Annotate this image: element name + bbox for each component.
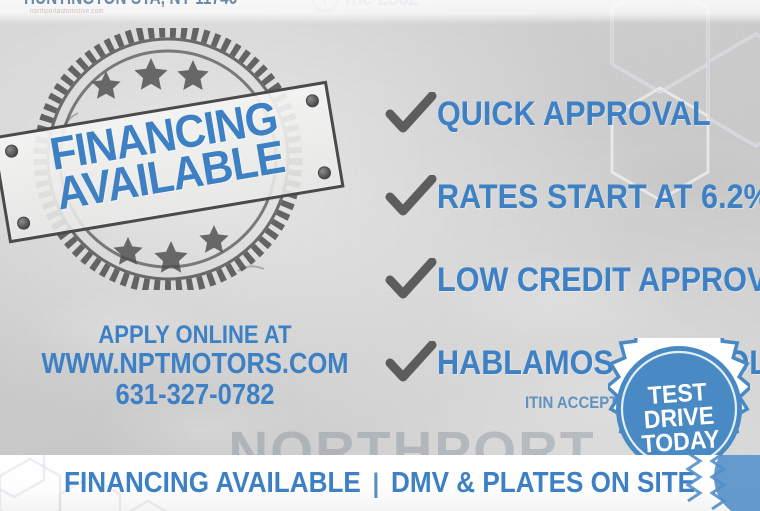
checklist-item: QUICK APPROVAL bbox=[385, 72, 760, 155]
website-link[interactable]: WWW.NPTMOTORS.COM bbox=[23, 349, 366, 380]
bottom-bar-right-text: DMV & PLATES ON SITE bbox=[391, 469, 695, 498]
bottom-info-bar: FINANCING AVAILABLE | DMV & PLATES ON SI… bbox=[0, 455, 760, 511]
flyer-canvas: HUNTINGTON STA, NY 11746 northportautomo… bbox=[0, 0, 760, 511]
bottom-bar-content: FINANCING AVAILABLE | DMV & PLATES ON SI… bbox=[64, 469, 695, 498]
brand-logo[interactable]: f mc-2302 bbox=[312, 0, 420, 12]
logo-wordmark: mc-2302 bbox=[345, 0, 418, 11]
checkmark-icon bbox=[385, 92, 437, 136]
bottom-bar-left-text: FINANCING AVAILABLE bbox=[64, 469, 361, 498]
stamp-stars-bottom bbox=[113, 225, 228, 273]
dealer-address-subtext: northportautomotive.com bbox=[30, 8, 104, 15]
checkmark-icon bbox=[385, 175, 437, 219]
top-cropped-header: HUNTINGTON STA, NY 11746 northportautomo… bbox=[0, 0, 760, 24]
checklist-item-label: RATES START AT 6.2% bbox=[437, 180, 760, 214]
checklist-item-label: QUICK APPROVAL bbox=[437, 97, 711, 131]
facebook-circle-icon[interactable]: f bbox=[312, 0, 338, 12]
badge-overlap-edge bbox=[678, 455, 760, 511]
checklist-item-label: LOW CREDIT APPROVED bbox=[437, 263, 760, 297]
checklist-item: RATES START AT 6.2% bbox=[385, 155, 760, 238]
financing-stamp: FINANCING AVAILABLE bbox=[18, 28, 318, 290]
checkmark-icon bbox=[385, 258, 437, 302]
checkmark-icon bbox=[385, 341, 437, 385]
bottom-bar-separator: | bbox=[373, 470, 380, 497]
badge-text: TEST DRIVE TODAY bbox=[606, 377, 753, 459]
apply-online-label: APPLY ONLINE AT bbox=[23, 322, 366, 349]
phone-number[interactable]: 631-327-0782 bbox=[23, 380, 366, 411]
checklist-item: LOW CREDIT APPROVED bbox=[385, 238, 760, 321]
apply-online-block: APPLY ONLINE AT WWW.NPTMOTORS.COM 631-32… bbox=[0, 322, 390, 412]
stamp-stars-top bbox=[91, 58, 208, 99]
